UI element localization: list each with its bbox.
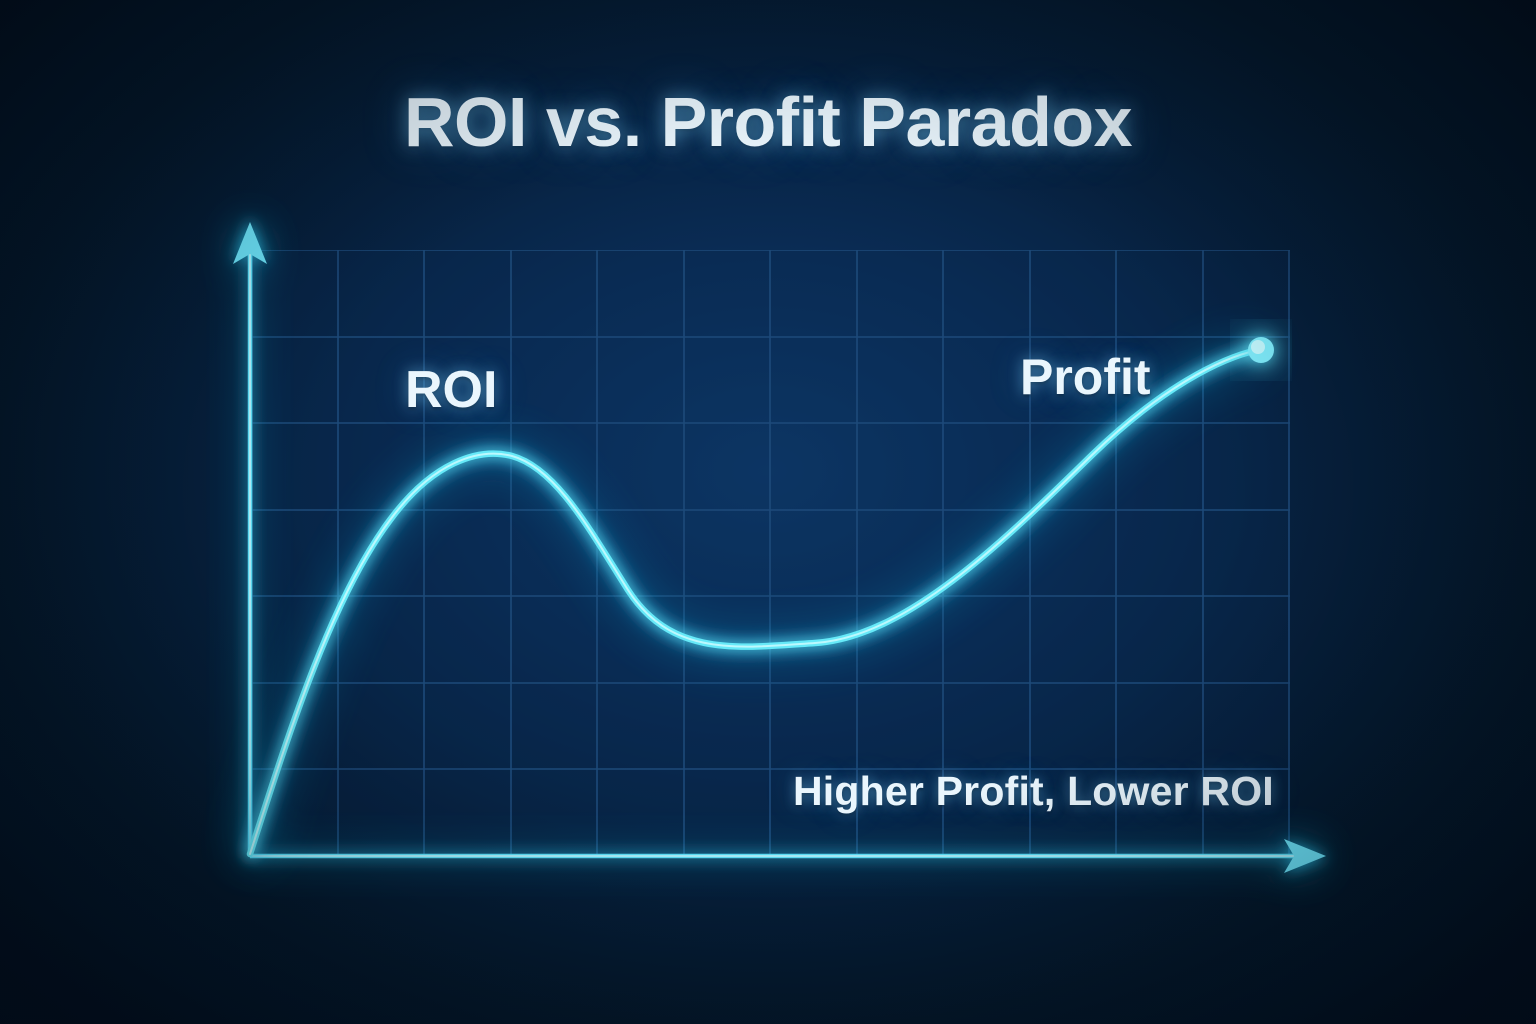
chart-annotation: Higher Profit, Lower ROI [793, 768, 1274, 815]
series-label-roi: ROI [405, 360, 497, 420]
endpoint-marker[interactable] [1247, 336, 1275, 364]
series-label-profit: Profit [1020, 348, 1151, 406]
plot-area-panel [252, 250, 1290, 856]
chart-plot-svg [0, 0, 1536, 1024]
chart-canvas: ROI vs. Profit Paradox [0, 0, 1536, 1024]
